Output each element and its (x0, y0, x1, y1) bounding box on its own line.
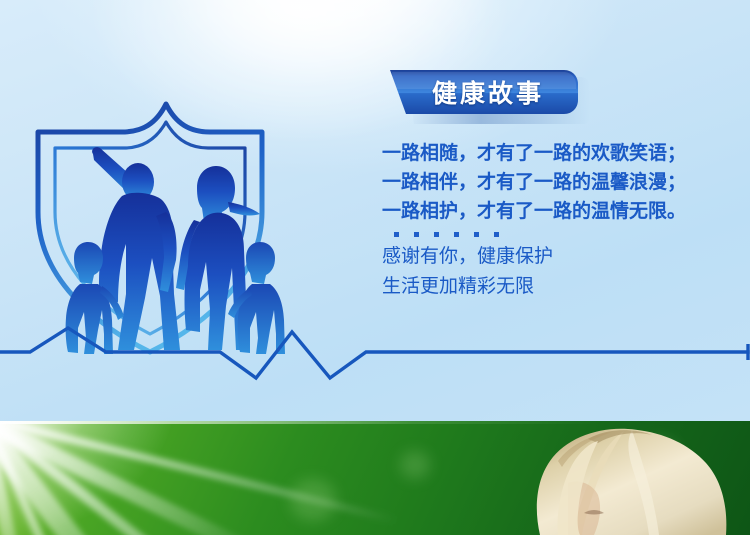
ellipsis-dots (394, 232, 732, 237)
dot (434, 232, 439, 237)
bokeh-spot (400, 451, 430, 479)
bottom-green-panel (0, 421, 750, 535)
body-line-1: 一路相随，才有了一路的欢歌笑语； (382, 139, 732, 168)
copy-block: 一路相随，才有了一路的欢歌笑语； 一路相伴，才有了一路的温馨浪漫； 一路相护，才… (382, 139, 732, 301)
dot (414, 232, 419, 237)
shield-family-icon (14, 62, 314, 362)
title-badge: 健康故事 (390, 70, 586, 114)
body-line-3: 一路相护，才有了一路的温情无限。 (382, 197, 732, 226)
closing-line-2: 生活更加精彩无限 (382, 271, 732, 301)
woman-portrait (528, 421, 750, 535)
body-line-2: 一路相伴，才有了一路的温馨浪漫； (382, 168, 732, 197)
bokeh-spot (290, 479, 336, 521)
dot (494, 232, 499, 237)
dot (394, 232, 399, 237)
top-blue-panel: 健康故事 一路相随，才有了一路的欢歌笑语； 一路相伴，才有了一路的温馨浪漫； 一… (0, 0, 750, 421)
heartbeat-line-icon (0, 318, 750, 388)
health-story-banner: 健康故事 一路相随，才有了一路的欢歌笑语； 一路相伴，才有了一路的温馨浪漫； 一… (0, 0, 750, 535)
dot (474, 232, 479, 237)
closing-line-1: 感谢有你，健康保护 (382, 241, 732, 271)
title-badge-label: 健康故事 (390, 70, 586, 114)
dot (454, 232, 459, 237)
